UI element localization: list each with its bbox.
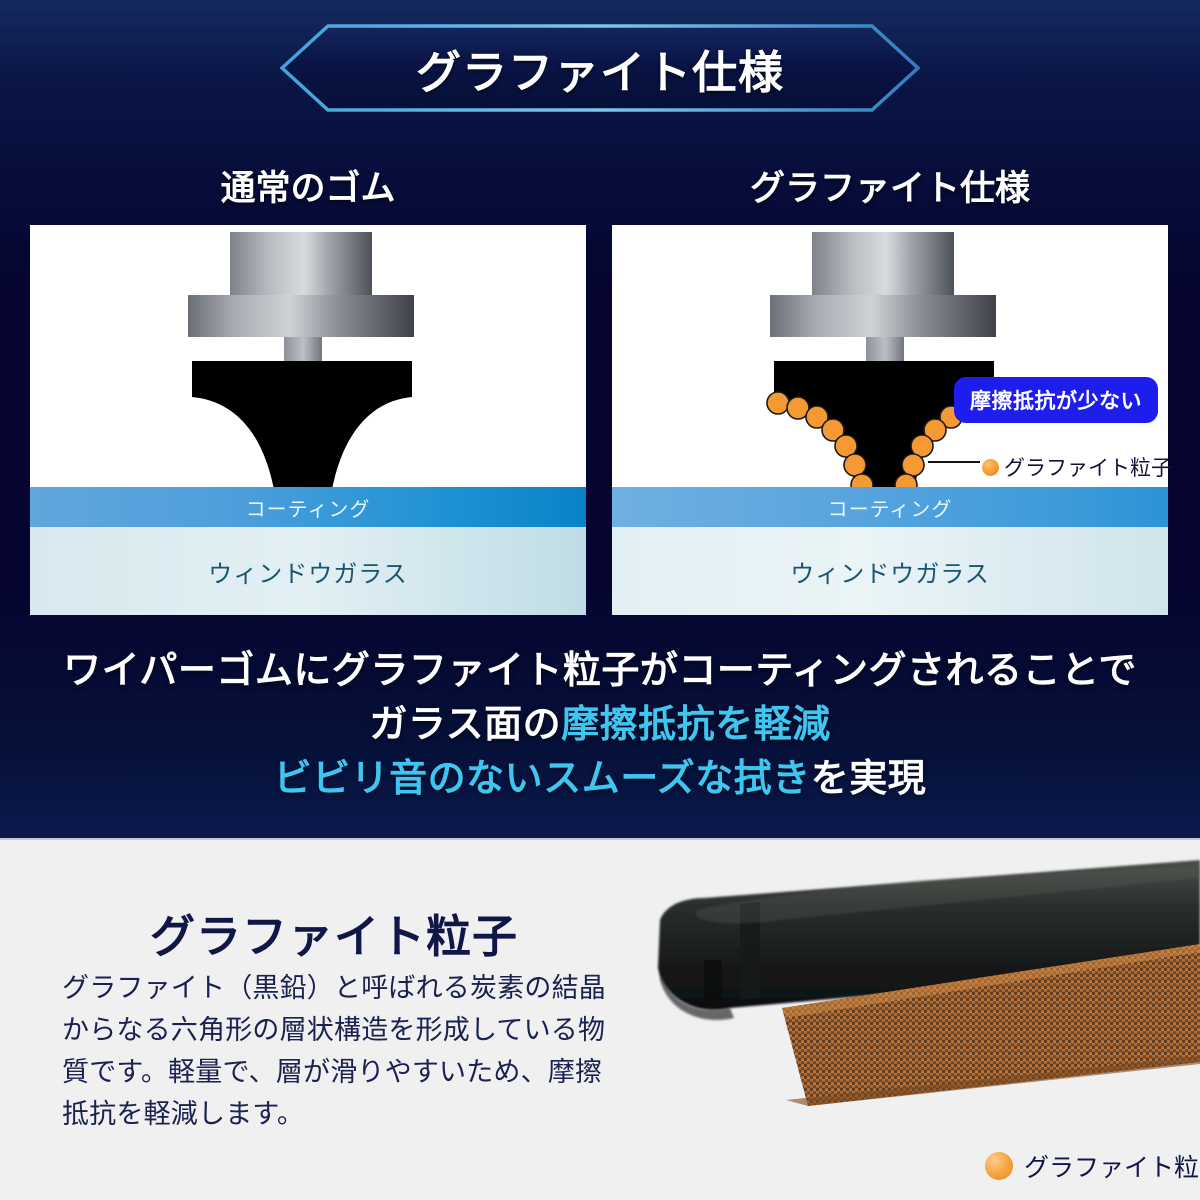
caption-line-3a: ビビリ音のない — [274, 758, 544, 800]
caption-line-2a: ガラス面の — [369, 704, 561, 746]
low-friction-badge: 摩擦抵抗が少ない — [954, 377, 1158, 423]
left-diagram-panel: 摩擦抵抗が大きい 摩擦でビビリ音 コーティング ウィンドウガラス — [30, 225, 586, 615]
caption-line-3b: スムーズな拭き — [543, 758, 811, 800]
bottom-title: グラファイト粒子 — [150, 900, 518, 965]
graphite-dot-icon — [982, 459, 999, 476]
caption-line-1: ワイパーゴムにグラファイト粒子がコーティングされることで — [0, 645, 1200, 699]
legend-label: グラファイト粒子 — [1024, 1148, 1200, 1184]
right-coating-label: コーティング — [828, 493, 953, 522]
caption-block: ワイパーゴムにグラファイト粒子がコーティングされることで ガラス面の摩擦抵抗を軽… — [0, 645, 1200, 807]
left-glass-layer: ウィンドウガラス — [30, 527, 586, 615]
right-coating-layer: コーティング — [612, 487, 1168, 527]
bottom-body-text: グラファイト（黒鉛）と呼ばれる炭素の結晶からなる六角形の層状構造を形成している物… — [62, 968, 622, 1135]
graphite-particle-callout: グラファイト粒子 — [982, 452, 1172, 482]
left-coating-label: コーティング — [246, 493, 371, 522]
right-glass-layer: ウィンドウガラス — [612, 527, 1168, 615]
left-coating-layer: コーティング — [30, 487, 586, 527]
infographic-page: グラファイト仕様 通常のゴム — [0, 0, 1200, 1200]
title-banner: グラファイト仕様 — [280, 24, 920, 112]
right-diagram-panel: スムーズな動き 摩擦抵抗が少ない コーティング ウィンドウガラス — [612, 225, 1168, 615]
section-divider — [0, 838, 1200, 840]
caption-line-3: ビビリ音のないスムーズな拭きを実現 — [0, 753, 1200, 807]
left-panel-heading: 通常のゴム — [30, 160, 586, 211]
callout-label: グラファイト粒子 — [1004, 452, 1172, 482]
bottom-section: グラファイト粒子 グラファイト（黒鉛）と呼ばれる炭素の結晶からなる六角形の層状構… — [0, 838, 1200, 1200]
right-panel-heading: グラファイト仕様 — [612, 160, 1168, 211]
wiper-blade-photo — [600, 848, 1200, 1148]
left-glass-label: ウィンドウガラス — [208, 554, 408, 589]
banner-title: グラファイト仕様 — [280, 24, 920, 112]
top-section: グラファイト仕様 通常のゴム — [0, 0, 1200, 838]
caption-line-2: ガラス面の摩擦抵抗を軽減 — [0, 699, 1200, 753]
caption-line-2b: 摩擦抵抗を軽減 — [561, 704, 831, 746]
right-glass-label: ウィンドウガラス — [790, 554, 990, 589]
callout-leader-line — [928, 461, 980, 463]
legend-graphite-dot-icon — [985, 1152, 1013, 1180]
graphite-legend: グラファイト粒子 — [985, 1148, 1200, 1184]
caption-line-3c: を実現 — [811, 758, 927, 800]
